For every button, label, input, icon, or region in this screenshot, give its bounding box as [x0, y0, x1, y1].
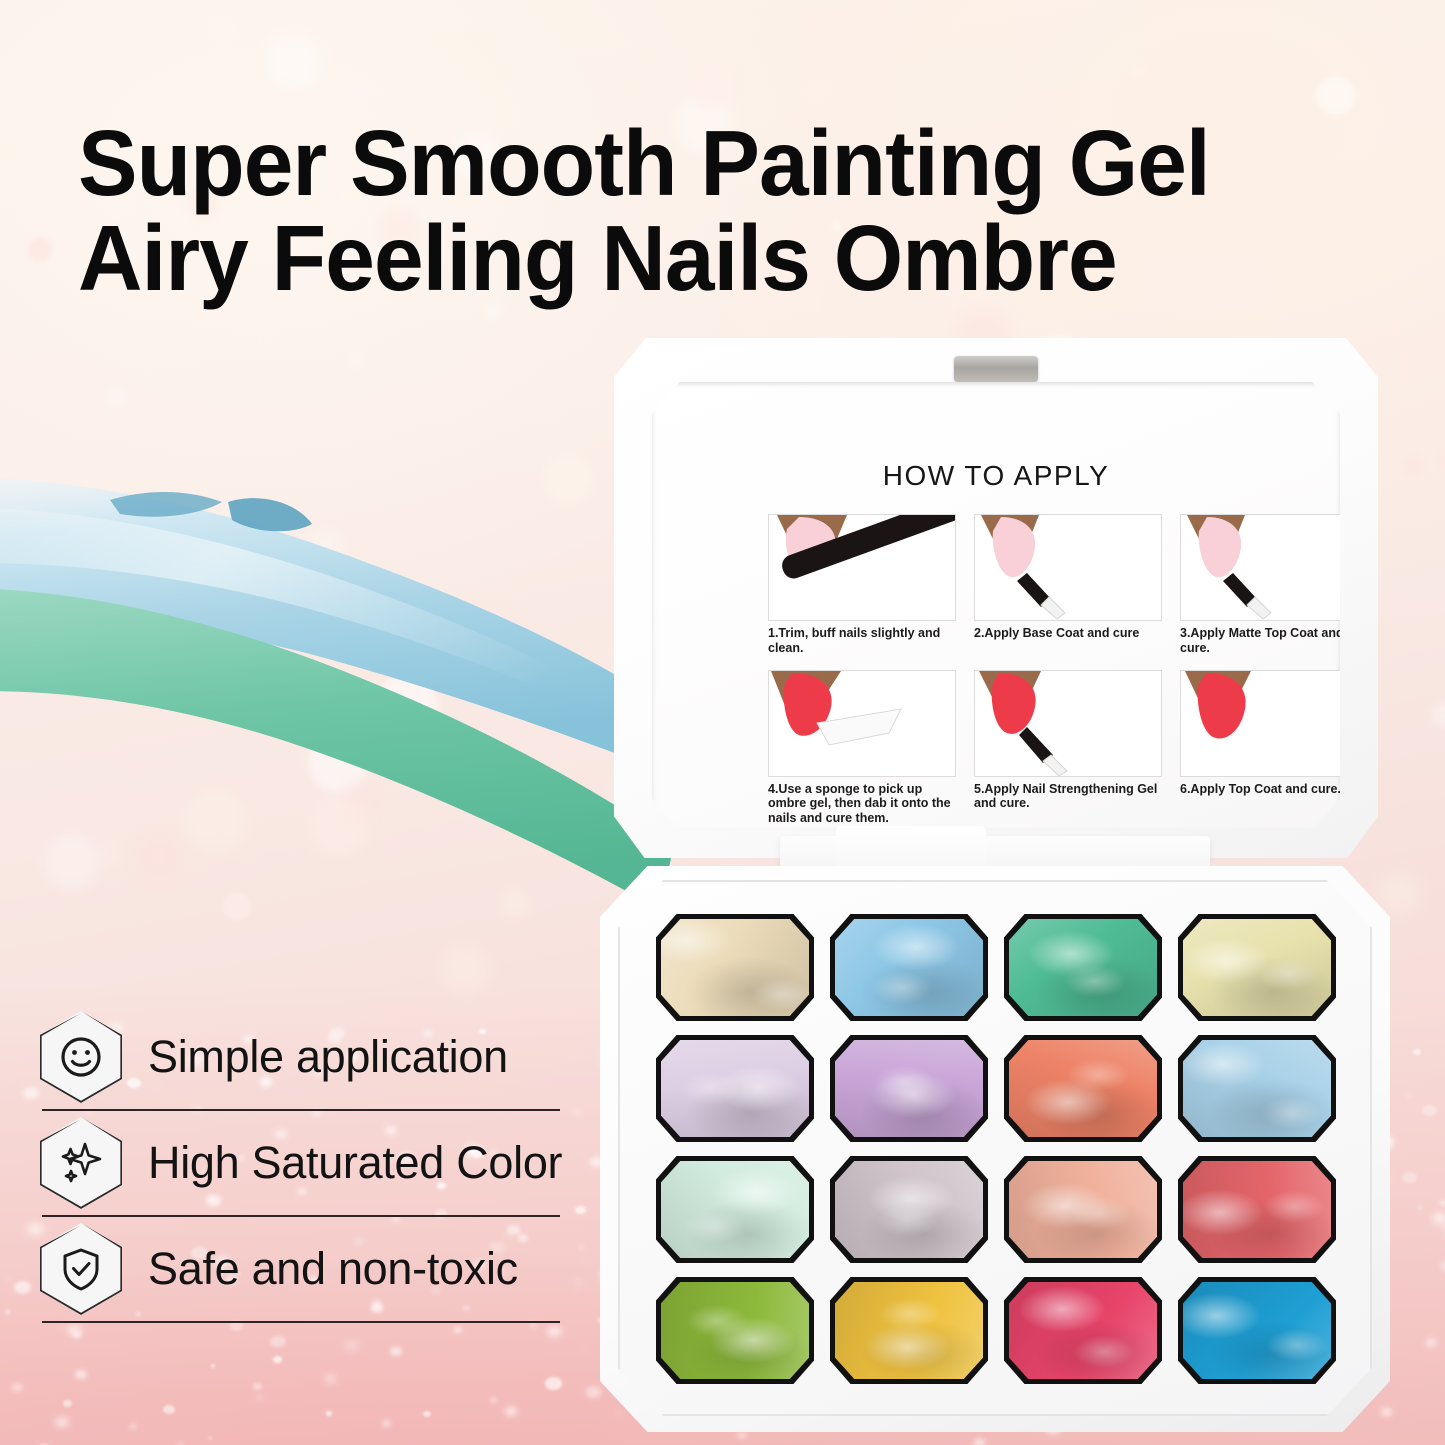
color-well[interactable] [1004, 1035, 1162, 1142]
gel-gloss-highlight [1183, 1161, 1331, 1258]
step-illustration [1181, 671, 1367, 776]
lid-clasp-icon[interactable] [954, 356, 1038, 382]
color-well[interactable] [1004, 914, 1162, 1021]
step-illustration [769, 671, 955, 776]
product-marketing-image: Super Smooth Painting Gel Airy Feeling N… [0, 0, 1445, 1445]
step-caption-2: 2.Apply Base Coat and cure [974, 626, 1162, 641]
lid-instruction-panel: HOW TO APPLY 1.Trim, buff nails slightly… [652, 382, 1340, 830]
color-swatch-olive-green[interactable] [661, 1282, 809, 1379]
instruction-steps: 1.Trim, buff nails slightly and clean. 2… [768, 514, 1368, 840]
color-well[interactable] [830, 1035, 988, 1142]
gel-gloss-highlight [835, 1282, 983, 1379]
step-caption-4: 4.Use a sponge to pick up ombre gel, the… [768, 782, 956, 826]
feature-icon-frame [40, 1223, 122, 1315]
feature-divider [42, 1321, 560, 1323]
step-image-6 [1180, 670, 1368, 777]
step-illustration [975, 671, 1161, 776]
instruction-step-row: 4.Use a sponge to pick up ombre gel, the… [768, 670, 1368, 826]
color-well[interactable] [1004, 1156, 1162, 1263]
instruction-step: 2.Apply Base Coat and cure [974, 514, 1162, 656]
color-swatch-peach[interactable] [1009, 1161, 1157, 1258]
color-swatch-lavender-purple[interactable] [835, 1040, 983, 1137]
color-swatch-sky-blue[interactable] [835, 919, 983, 1016]
color-well[interactable] [656, 1035, 814, 1142]
color-well[interactable] [830, 1277, 988, 1384]
feature-item: High Saturated Color [40, 1111, 600, 1215]
step-illustration [769, 515, 955, 620]
color-well[interactable] [1178, 1156, 1336, 1263]
color-swatch-baby-blue[interactable] [1183, 1040, 1331, 1137]
instruction-step: 5.Apply Nail Strengthening Gel and cure. [974, 670, 1162, 826]
step-caption-5: 5.Apply Nail Strengthening Gel and cure. [974, 782, 1162, 812]
instruction-step: 6.Apply Top Coat and cure. [1180, 670, 1368, 826]
gel-gloss-highlight [1183, 919, 1331, 1016]
color-swatch-jade-green[interactable] [1009, 919, 1157, 1016]
feature-list: Simple application High Saturated Color … [40, 1005, 600, 1323]
color-well[interactable] [1004, 1277, 1162, 1384]
step-image-2 [974, 514, 1162, 621]
gel-palette-case: HOW TO APPLY 1.Trim, buff nails slightly… [600, 338, 1390, 1433]
page-title: Super Smooth Painting Gel Airy Feeling N… [78, 116, 1345, 306]
step-image-4 [768, 670, 956, 777]
gel-gloss-highlight [835, 919, 983, 1016]
instruction-step: 1.Trim, buff nails slightly and clean. [768, 514, 956, 656]
color-swatch-mint[interactable] [661, 1161, 809, 1258]
gel-gloss-highlight [1009, 1282, 1157, 1379]
color-swatch-mustard-yellow[interactable] [835, 1282, 983, 1379]
step-image-3 [1180, 514, 1368, 621]
gel-gloss-highlight [661, 1040, 809, 1137]
feature-icon-frame [40, 1011, 122, 1103]
step-image-1 [768, 514, 956, 621]
gel-gloss-highlight [1009, 1040, 1157, 1137]
gel-gloss-highlight [1009, 1161, 1157, 1258]
feature-item: Simple application [40, 1005, 600, 1109]
step-caption-3: 3.Apply Matte Top Coat and cure. [1180, 626, 1368, 656]
color-well[interactable] [656, 1156, 814, 1263]
gel-gloss-highlight [1183, 1282, 1331, 1379]
step-illustration [1181, 515, 1367, 620]
color-swatch-grey-lilac[interactable] [835, 1161, 983, 1258]
gel-gloss-highlight [1183, 1040, 1331, 1137]
palette-base [600, 866, 1390, 1432]
color-well[interactable] [1178, 1277, 1336, 1384]
feature-icon-frame [40, 1117, 122, 1209]
feature-label: High Saturated Color [148, 1137, 562, 1189]
color-well[interactable] [656, 914, 814, 1021]
palette-lid: HOW TO APPLY 1.Trim, buff nails slightly… [614, 338, 1378, 858]
gel-gloss-highlight [835, 1040, 983, 1137]
shield-check-icon [57, 1245, 105, 1293]
smiley-face-icon [57, 1033, 105, 1081]
instructions-title: HOW TO APPLY [652, 460, 1340, 492]
color-swatch-cyan-blue[interactable] [1183, 1282, 1331, 1379]
feature-label: Simple application [148, 1031, 508, 1083]
color-well[interactable] [830, 914, 988, 1021]
color-swatch-grid [656, 914, 1336, 1384]
instruction-step: 4.Use a sponge to pick up ombre gel, the… [768, 670, 956, 826]
gel-gloss-highlight [1009, 919, 1157, 1016]
step-image-5 [974, 670, 1162, 777]
gel-gloss-highlight [661, 919, 809, 1016]
headline-line-2: Airy Feeling Nails Ombre [78, 211, 1345, 306]
gel-gloss-highlight [661, 1161, 809, 1258]
color-well[interactable] [1178, 914, 1336, 1021]
gel-gloss-highlight [661, 1282, 809, 1379]
color-swatch-pale-yellow[interactable] [1183, 919, 1331, 1016]
color-well[interactable] [830, 1156, 988, 1263]
color-swatch-lilac[interactable] [661, 1040, 809, 1137]
color-swatch-cream[interactable] [661, 919, 809, 1016]
color-well[interactable] [656, 1277, 814, 1384]
sparkle-icon [56, 1138, 106, 1188]
color-well[interactable] [1178, 1035, 1336, 1142]
feature-label: Safe and non-toxic [148, 1243, 518, 1295]
feature-item: Safe and non-toxic [40, 1217, 600, 1321]
color-swatch-watermelon-red[interactable] [1183, 1161, 1331, 1258]
step-caption-6: 6.Apply Top Coat and cure. [1180, 782, 1368, 797]
instruction-step-row: 1.Trim, buff nails slightly and clean. 2… [768, 514, 1368, 656]
instruction-step: 3.Apply Matte Top Coat and cure. [1180, 514, 1368, 656]
step-caption-1: 1.Trim, buff nails slightly and clean. [768, 626, 956, 656]
color-swatch-rose-red[interactable] [1009, 1282, 1157, 1379]
headline-line-1: Super Smooth Painting Gel [78, 111, 1210, 215]
color-swatch-coral[interactable] [1009, 1040, 1157, 1137]
step-illustration [975, 515, 1161, 620]
gel-gloss-highlight [835, 1161, 983, 1258]
